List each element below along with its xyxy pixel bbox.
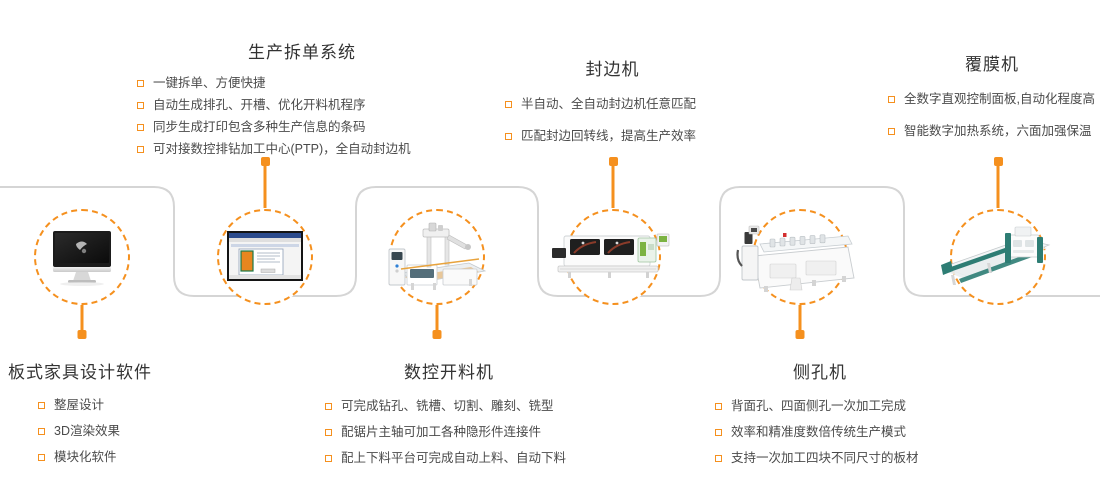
laminating-machine-icon xyxy=(937,223,1059,291)
side-drilling-machine-icon xyxy=(736,220,864,294)
group-side-drilling-list: 背面孔、四面侧孔一次加工完成 效率和精准度数倍传统生产模式 支持一次加工四块不同… xyxy=(715,400,995,465)
connector-stems-bottom xyxy=(82,300,800,333)
bullet-square-icon xyxy=(715,403,722,410)
group-order-split-title: 生产拆单系统 xyxy=(137,38,467,63)
bullet-square-icon xyxy=(505,133,512,140)
infographic-canvas: 生产拆单系统 一键拆单、方便快捷 自动生成排孔、开槽、优化开料机程序 同步生成打… xyxy=(0,0,1100,495)
bullet-square-icon xyxy=(137,124,144,131)
list-item: 全数字直观控制面板,自动化程度高 xyxy=(888,93,1100,106)
list-item: 配锯片主轴可加工各种隐形件连接件 xyxy=(325,426,615,439)
group-laminating-list: 全数字直观控制面板,自动化程度高 智能数字加热系统，六面加强保温 xyxy=(888,93,1100,138)
list-item: 背面孔、四面侧孔一次加工完成 xyxy=(715,400,995,413)
group-cnc-cutting-list: 可完成钻孔、铣槽、切割、雕刻、铣型 配锯片主轴可加工各种隐形件连接件 配上下料平… xyxy=(325,400,615,465)
group-edge-banding-title: 封边机 xyxy=(505,55,720,80)
bullet-square-icon xyxy=(888,128,895,135)
list-item: 可完成钻孔、铣槽、切割、雕刻、铣型 xyxy=(325,400,615,413)
bullet-square-icon xyxy=(137,80,144,87)
group-cnc-cutting: 数控开料机 可完成钻孔、铣槽、切割、雕刻、铣型 配锯片主轴可加工各种隐形件连接件… xyxy=(325,358,615,478)
connector-dots-bottom xyxy=(78,330,805,339)
node-side-drilling-machine[interactable] xyxy=(752,209,848,305)
bullet-square-icon xyxy=(38,454,45,461)
group-edge-banding: 封边机 半自动、全自动封边机任意匹配 匹配封边回转线，提高生产效率 xyxy=(505,55,720,162)
group-edge-banding-list: 半自动、全自动封边机任意匹配 匹配封边回转线，提高生产效率 xyxy=(505,98,720,143)
group-side-drilling-title: 侧孔机 xyxy=(715,358,995,383)
list-item: 可对接数控排钻加工中心(PTP)，全自动封边机 xyxy=(137,143,467,156)
list-item: 匹配封边回转线，提高生产效率 xyxy=(505,130,720,143)
list-item: 半自动、全自动封边机任意匹配 xyxy=(505,98,720,111)
node-order-split-software[interactable] xyxy=(217,209,313,305)
list-item: 效率和精准度数倍传统生产模式 xyxy=(715,426,995,439)
bullet-square-icon xyxy=(505,101,512,108)
group-side-drilling: 侧孔机 背面孔、四面侧孔一次加工完成 效率和精准度数倍传统生产模式 支持一次加工… xyxy=(715,358,995,478)
list-item: 模块化软件 xyxy=(38,451,188,464)
node-laminating-machine[interactable] xyxy=(950,209,1046,305)
node-edge-banding-machine[interactable] xyxy=(565,209,661,305)
group-order-split-list: 一键拆单、方便快捷 自动生成排孔、开槽、优化开料机程序 同步生成打印包含多种生产… xyxy=(137,77,467,157)
bullet-square-icon xyxy=(325,403,332,410)
connector-stems-top xyxy=(265,163,998,208)
laptop-cad-software-icon xyxy=(225,229,305,285)
cnc-router-icon xyxy=(383,217,491,297)
list-item: 3D渲染效果 xyxy=(38,425,188,438)
bullet-square-icon xyxy=(137,146,144,153)
node-cnc-cutting-machine[interactable] xyxy=(389,209,485,305)
list-item: 同步生成打印包含多种生产信息的条码 xyxy=(137,121,467,134)
group-design-software-title: 板式家具设计软件 xyxy=(8,358,188,383)
bullet-square-icon xyxy=(715,429,722,436)
list-item: 智能数字加热系统，六面加强保温 xyxy=(888,125,1100,138)
imac-monitor-icon xyxy=(44,227,120,287)
group-cnc-cutting-title: 数控开料机 xyxy=(325,358,615,383)
list-item: 配上下料平台可完成自动上料、自动下料 xyxy=(325,452,615,465)
group-order-split: 生产拆单系统 一键拆单、方便快捷 自动生成排孔、开槽、优化开料机程序 同步生成打… xyxy=(137,38,467,166)
group-laminating: 覆膜机 全数字直观控制面板,自动化程度高 智能数字加热系统，六面加强保温 xyxy=(888,50,1100,157)
node-design-software[interactable] xyxy=(34,209,130,305)
bullet-square-icon xyxy=(38,428,45,435)
list-item: 一键拆单、方便快捷 xyxy=(137,77,467,90)
group-laminating-title: 覆膜机 xyxy=(888,50,1100,75)
list-item: 自动生成排孔、开槽、优化开料机程序 xyxy=(137,99,467,112)
bullet-square-icon xyxy=(888,96,895,103)
bullet-square-icon xyxy=(325,429,332,436)
bullet-square-icon xyxy=(137,102,144,109)
group-design-software: 板式家具设计软件 整屋设计 3D渲染效果 模块化软件 xyxy=(8,358,188,477)
list-item: 整屋设计 xyxy=(38,399,188,412)
list-item: 支持一次加工四块不同尺寸的板材 xyxy=(715,452,995,465)
bullet-square-icon xyxy=(38,402,45,409)
bullet-square-icon xyxy=(325,455,332,462)
bullet-square-icon xyxy=(715,455,722,462)
group-design-software-list: 整屋设计 3D渲染效果 模块化软件 xyxy=(8,399,188,464)
edge-banding-machine-icon xyxy=(550,226,676,288)
